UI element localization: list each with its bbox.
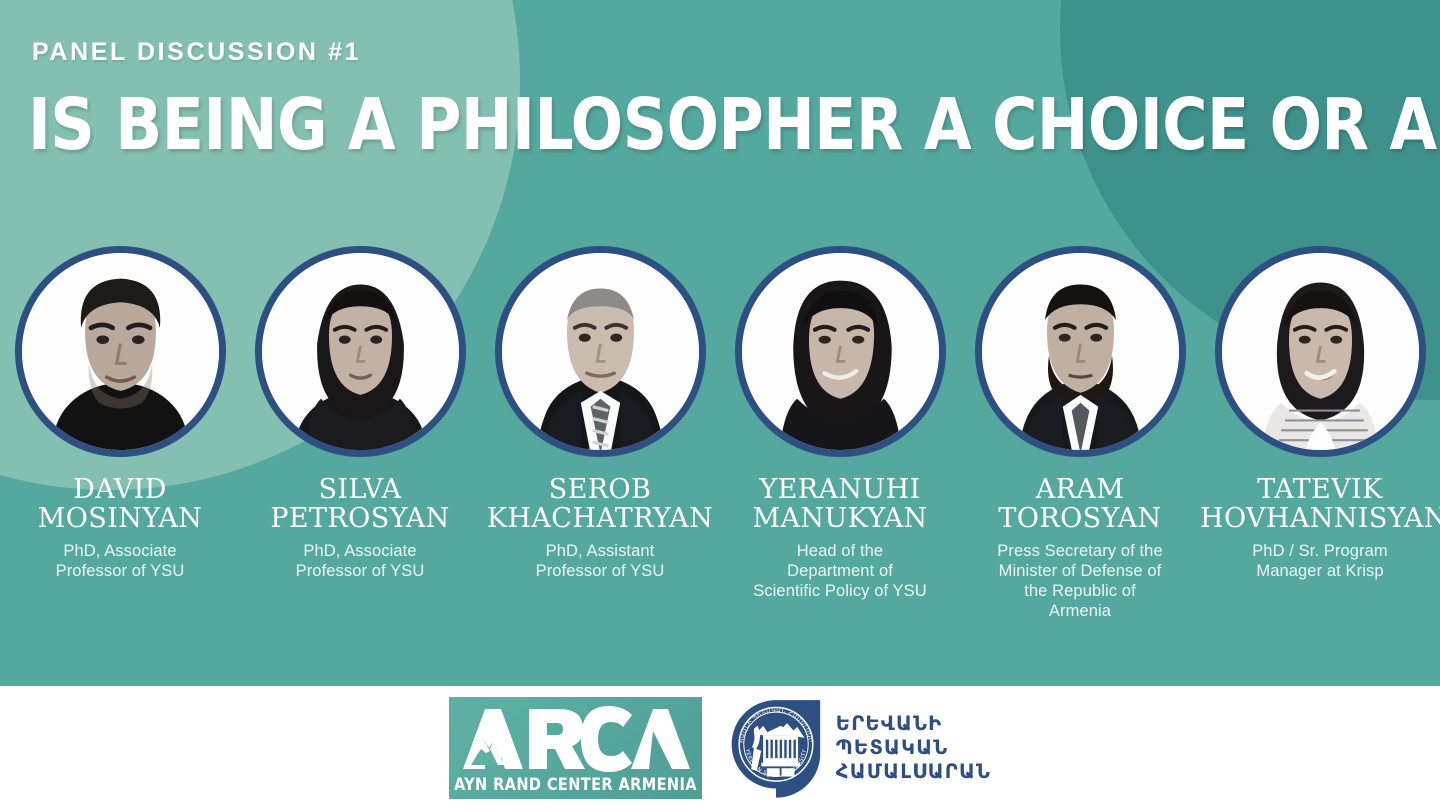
portrait-david-mosinyan-icon — [22, 253, 219, 450]
portrait-tatevik-hovhannisyan-icon — [1222, 253, 1419, 450]
speaker-title: PhD, AssociateProfessor of YSU — [296, 541, 425, 581]
portrait-serob-khachatryan-icon — [502, 253, 699, 450]
speaker-card: SILVAPETROSYAN PhD, AssociateProfessor o… — [240, 246, 480, 621]
speaker-name: SEROBKHACHATRYAN — [487, 475, 713, 533]
panel-kicker: PANEL DISCUSSION #1 — [32, 38, 361, 67]
ysu-line-2: ՊԵՏԱԿԱՆ — [836, 736, 991, 760]
speaker-name: DAVIDMOSINYAN — [38, 475, 203, 533]
speaker-title: PhD / Sr. ProgramManager at Krisp — [1252, 541, 1388, 581]
speaker-title: PhD, AssistantProfessor of YSU — [536, 541, 665, 581]
page-title: IS BEING A PHILOSOPHER A CHOICE OR A DES… — [28, 88, 1379, 162]
arca-wordmark-icon — [459, 703, 692, 775]
speaker-card: DAVIDMOSINYAN PhD, AssociateProfessor of… — [0, 246, 240, 621]
avatar — [255, 246, 466, 457]
speakers-row: DAVIDMOSINYAN PhD, AssociateProfessor of… — [0, 246, 1440, 621]
speaker-title: PhD, AssociateProfessor of YSU — [56, 541, 185, 581]
speaker-name: ARAMTOROSYAN — [998, 475, 1161, 533]
speaker-title: Press Secretary of theMinister of Defens… — [997, 541, 1162, 621]
avatar — [975, 246, 1186, 457]
avatar — [15, 246, 226, 457]
avatar — [495, 246, 706, 457]
portrait-aram-torosyan-icon — [982, 253, 1179, 450]
ysu-seal-icon: ԵՐԵՎԱՆԻ ՊԵՏԱԿԱՆ ՀԱՄԱԼՍԱՐԱՆ YEREVAN STATE… — [730, 698, 822, 798]
speaker-card: ARAMTOROSYAN Press Secretary of theMinis… — [960, 246, 1200, 621]
speaker-title: Head of theDepartment ofScientific Polic… — [753, 541, 927, 601]
avatar — [735, 246, 946, 457]
portrait-yeranuhi-manukyan-icon — [742, 253, 939, 450]
speaker-card: SEROBKHACHATRYAN PhD, AssistantProfessor… — [480, 246, 720, 621]
arca-subtitle: AYN RAND CENTER ARMENIA — [451, 775, 699, 794]
arca-logo: AYN RAND CENTER ARMENIA — [449, 697, 702, 799]
speaker-name: TATEVIKHOVHANNISYAN — [1200, 475, 1440, 533]
ysu-line-3: ՀԱՄԱԼՍԱՐԱՆ — [836, 760, 991, 784]
speaker-card: TATEVIKHOVHANNISYAN PhD / Sr. ProgramMan… — [1200, 246, 1440, 621]
ysu-name: ԵՐԵՎԱՆԻ ՊԵՏԱԿԱՆ ՀԱՄԱԼՍԱՐԱՆ — [836, 712, 991, 784]
portrait-silva-petrosyan-icon — [262, 253, 459, 450]
ysu-line-1: ԵՐԵՎԱՆԻ — [836, 712, 991, 736]
footer-logos: AYN RAND CENTER ARMENIA — [0, 686, 1440, 810]
avatar — [1215, 246, 1426, 457]
speaker-name: YERANUHIMANUKYAN — [752, 475, 927, 533]
panel-discussion-poster: PANEL DISCUSSION #1 IS BEING A PHILOSOPH… — [0, 0, 1440, 810]
speaker-card: YERANUHIMANUKYAN Head of theDepartment o… — [720, 246, 960, 621]
speaker-name: SILVAPETROSYAN — [270, 475, 449, 533]
ysu-logo: ԵՐԵՎԱՆԻ ՊԵՏԱԿԱՆ ՀԱՄԱԼՍԱՐԱՆ YEREVAN STATE… — [730, 698, 991, 798]
